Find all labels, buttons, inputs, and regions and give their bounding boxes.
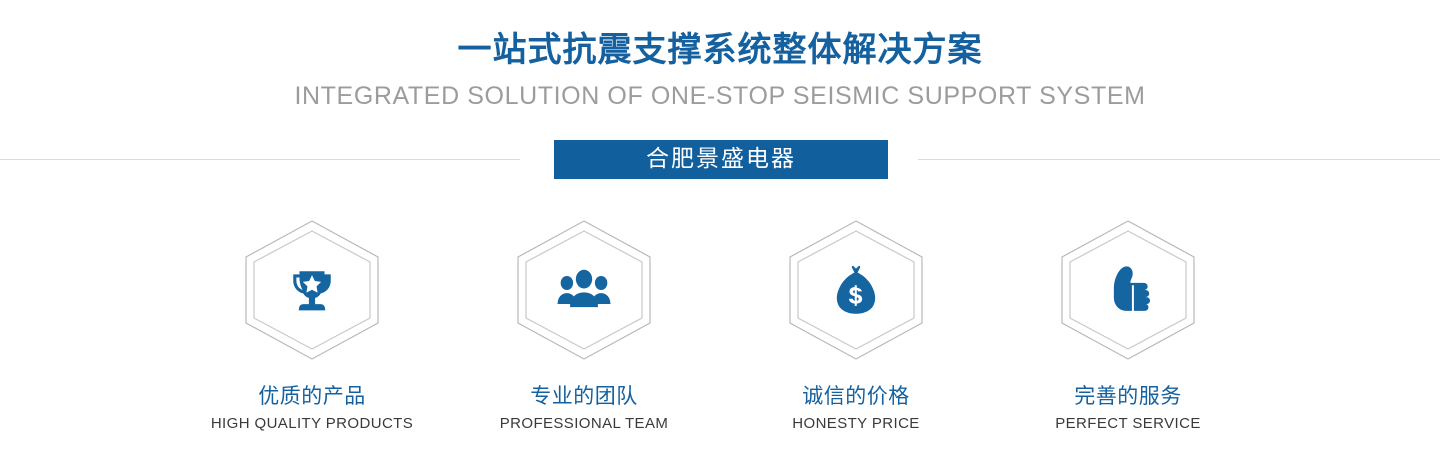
feature-label-en: HIGH QUALITY PRODUCTS (176, 410, 448, 434)
hexagon-frame-quality (242, 218, 382, 362)
feature-item-service[interactable]: 完善的服务 PERFECT SERVICE (992, 218, 1264, 434)
feature-list: 优质的产品 HIGH QUALITY PRODUCTS 专业的团队 PROF (0, 218, 1440, 438)
hexagon-frame-price (786, 218, 926, 362)
feature-label-cn: 优质的产品 (176, 362, 448, 410)
feature-item-quality[interactable]: 优质的产品 HIGH QUALITY PRODUCTS (176, 218, 448, 434)
trophy-icon (242, 218, 382, 362)
feature-label-en: HONESTY PRICE (720, 410, 992, 434)
brand-banner-row: 合肥景盛电器 (0, 140, 1440, 180)
thumbs-up-icon (1058, 218, 1198, 362)
money-bag-icon (786, 218, 926, 362)
page-title: 一站式抗震支撑系统整体解决方案 (0, 0, 1440, 72)
feature-item-team[interactable]: 专业的团队 PROFESSIONAL TEAM (448, 218, 720, 434)
feature-item-price[interactable]: 诚信的价格 HONESTY PRICE (720, 218, 992, 434)
feature-label-cn: 专业的团队 (448, 362, 720, 410)
hexagon-frame-service (1058, 218, 1198, 362)
feature-label-cn: 诚信的价格 (720, 362, 992, 410)
feature-label-en: PERFECT SERVICE (992, 410, 1264, 434)
divider-left (0, 159, 520, 160)
hexagon-frame-team (514, 218, 654, 362)
brand-name-banner: 合肥景盛电器 (554, 140, 888, 179)
team-people-icon (514, 218, 654, 362)
feature-label-cn: 完善的服务 (992, 362, 1264, 410)
divider-right (918, 159, 1440, 160)
feature-label-en: PROFESSIONAL TEAM (448, 410, 720, 434)
page-header: 一站式抗震支撑系统整体解决方案 INTEGRATED SOLUTION OF O… (0, 0, 1440, 112)
page-subtitle: INTEGRATED SOLUTION OF ONE-STOP SEISMIC … (0, 72, 1440, 112)
